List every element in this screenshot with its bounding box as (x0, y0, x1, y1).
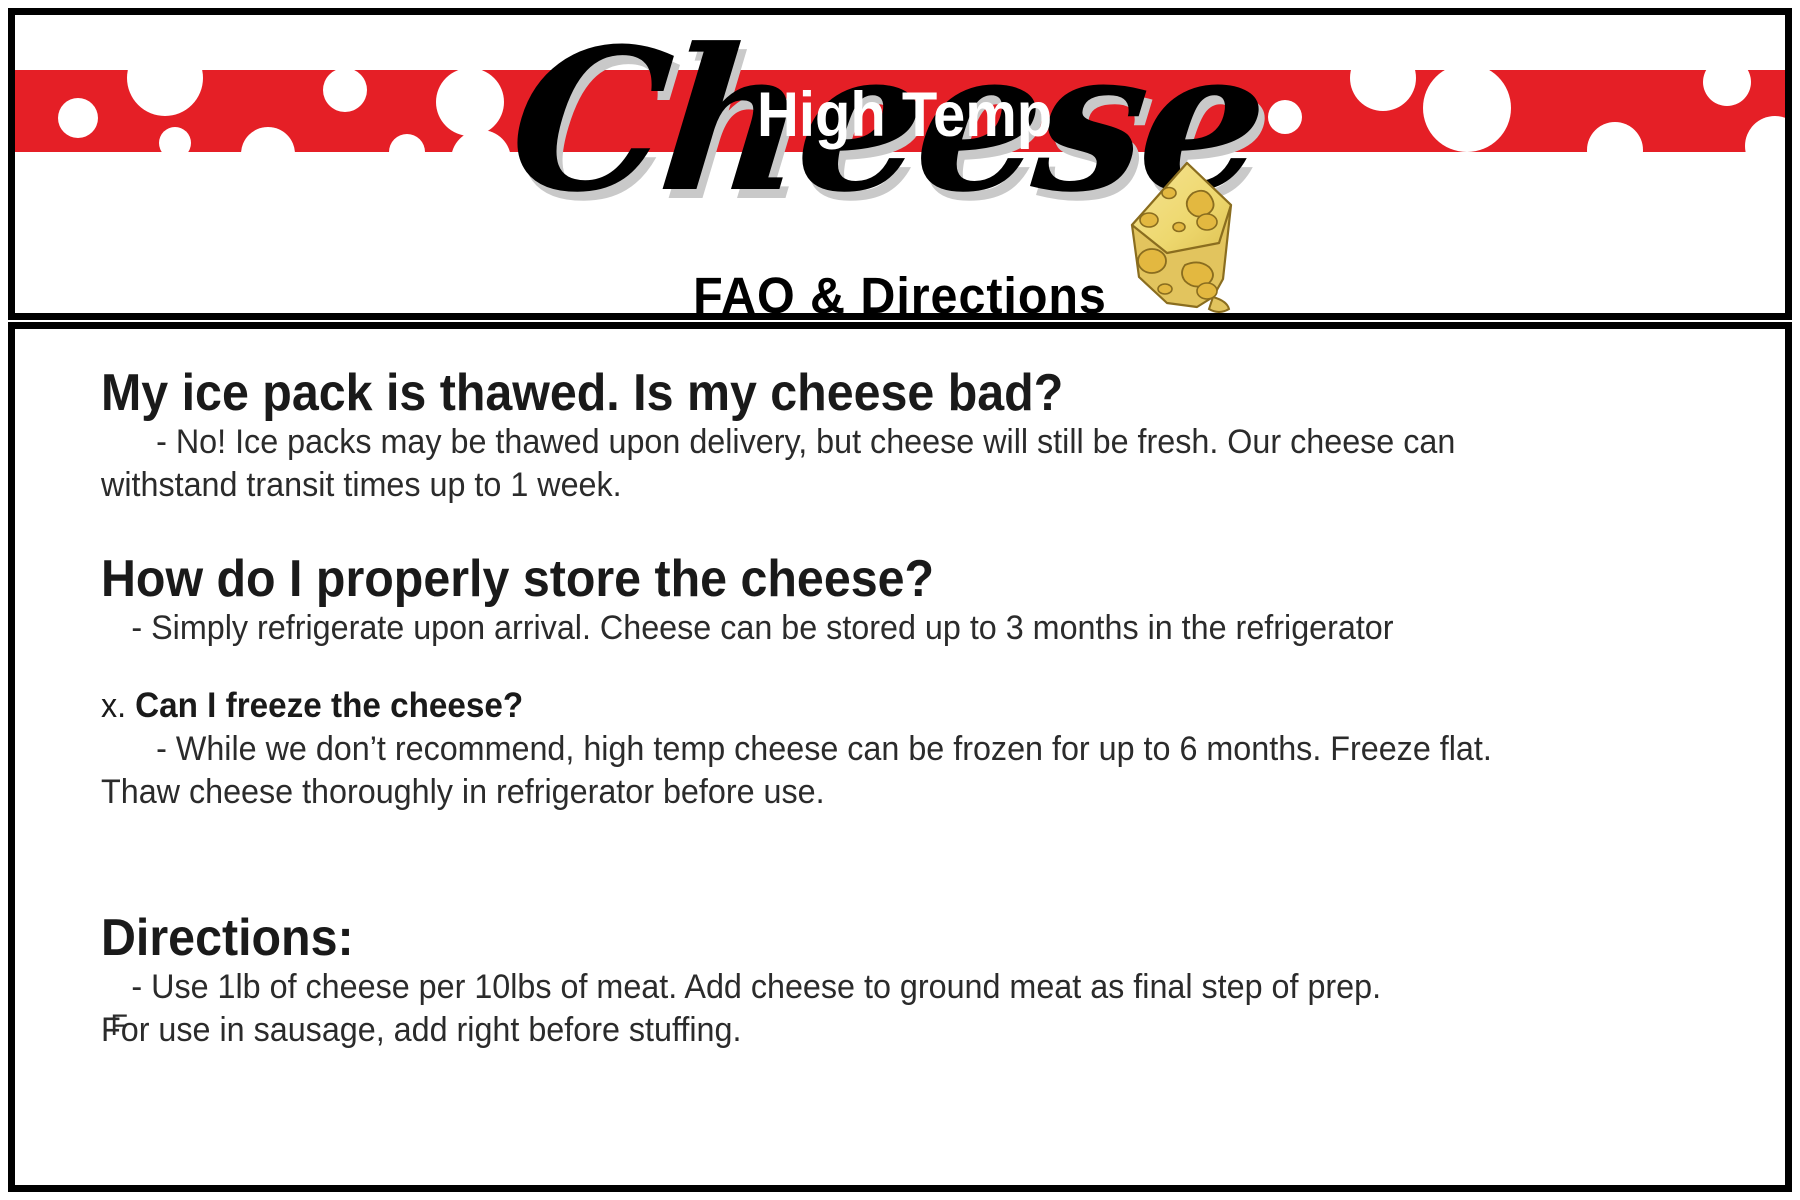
faq-subquestion-freeze-cheese: x. Can I freeze the cheese? (101, 684, 1621, 728)
faq-panel: My ice pack is thawed. Is my cheese bad?… (8, 322, 1792, 1192)
directions-heading: Directions: (101, 910, 1589, 966)
polka-dot (1745, 116, 1785, 152)
polka-dot (1587, 122, 1643, 152)
header-panel: Cheese High Temp (8, 8, 1792, 320)
directions-line2: F For use in sausage, add right before s… (101, 1009, 1621, 1052)
faq-answer-freeze-cheese-line2: Thaw cheese thoroughly in refrigerator b… (101, 771, 1621, 814)
faq-question-store-cheese: How do I properly store the cheese? (101, 551, 1589, 607)
polka-dot (241, 127, 295, 152)
polka-dot (1703, 70, 1751, 106)
faq-answer-thawed-ice-pack-line1: - No! Ice packs may be thawed upon deliv… (101, 421, 1621, 464)
polka-dot (1423, 70, 1511, 152)
section-spacer (101, 650, 1701, 684)
section-spacer (101, 814, 1701, 910)
subquestion-text: Can I freeze the cheese? (135, 686, 523, 725)
section-spacer (101, 507, 1701, 551)
polka-dot (58, 98, 98, 138)
cheese-faq-card: Cheese High Temp (0, 0, 1800, 1200)
faq-answer-thawed-ice-pack-line2: withstand transit times up to 1 week. (101, 464, 1621, 507)
page-subtitle: FAQ & Directions (59, 270, 1741, 320)
directions-line1: - Use 1lb of cheese per 10lbs of meat. A… (101, 966, 1621, 1009)
polka-dot (323, 70, 367, 112)
polka-dot (159, 127, 191, 152)
polka-dot (389, 134, 425, 152)
cheese-wedge-icon (1127, 157, 1267, 315)
polka-dot (1268, 100, 1302, 134)
faq-answer-store-cheese-line1: - Simply refrigerate upon arrival. Chees… (101, 607, 1621, 650)
polka-dot (1350, 70, 1416, 111)
faq-answer-freeze-cheese-line1: - While we don’t recommend, high temp ch… (101, 728, 1621, 771)
faq-question-thawed-ice-pack: My ice pack is thawed. Is my cheese bad? (101, 365, 1589, 421)
subquestion-marker: x. (101, 687, 126, 725)
polka-dot (436, 70, 504, 136)
high-temp-tag: High Temp (757, 83, 1052, 147)
polka-dot (127, 70, 203, 116)
stray-mark: F (111, 1004, 128, 1047)
